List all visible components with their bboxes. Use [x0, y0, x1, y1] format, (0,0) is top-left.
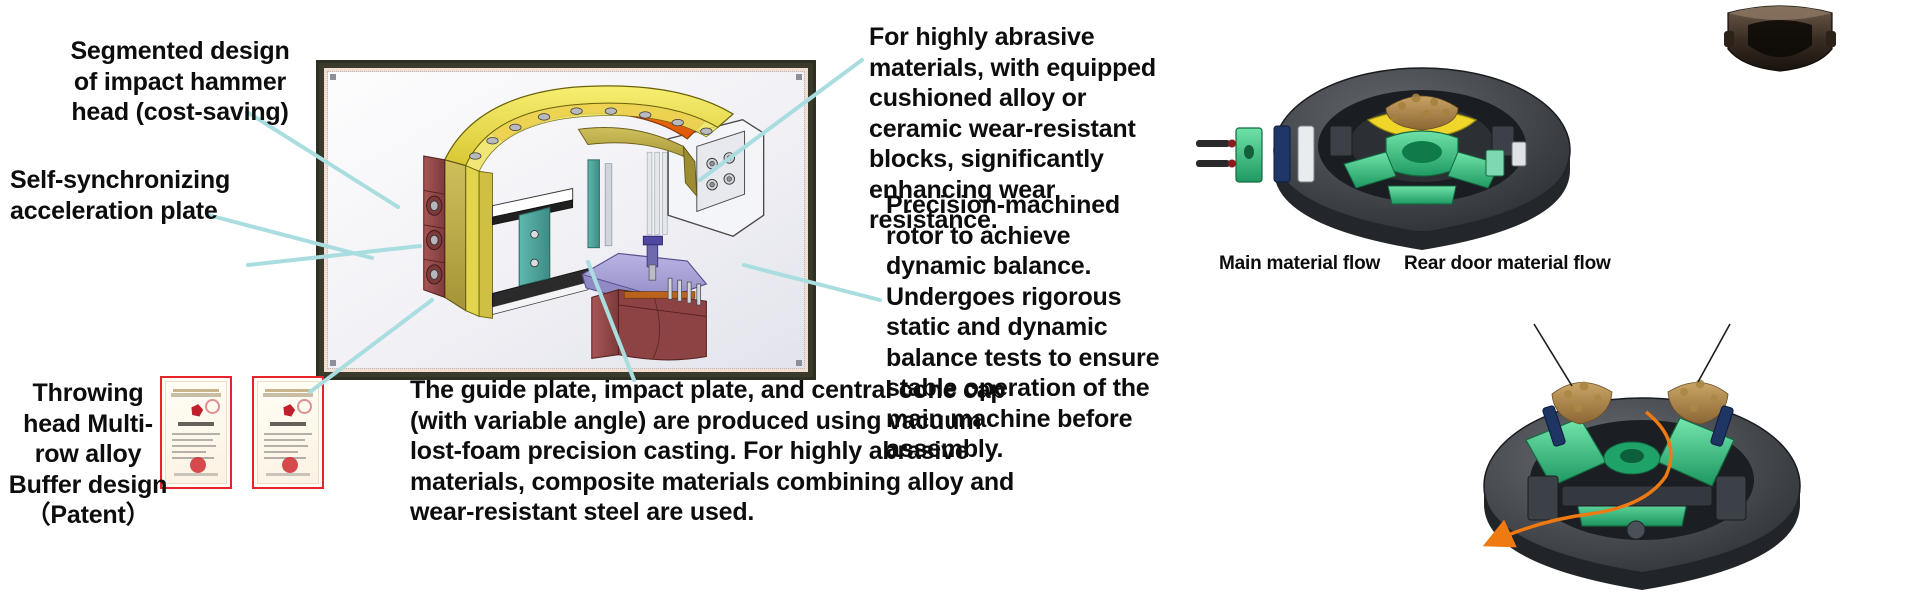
certificate-subtitle-bar — [270, 422, 306, 426]
patent-certificate-thumbnail-1[interactable] — [160, 376, 232, 489]
callout-segmented-design: Segmented design of impact hammer head (… — [60, 36, 300, 128]
certificate-seal-icon — [205, 399, 220, 414]
cad-viewport — [328, 72, 804, 368]
label-rear-door-material-flow: Rear door material flow — [1404, 252, 1611, 275]
cad-assembly-frame — [316, 60, 816, 380]
wear-ring-component-render — [1700, 5, 1860, 85]
rotor-cutaway-drawing — [328, 72, 804, 368]
diagram-canvas: Segmented design of impact hammer head (… — [0, 0, 1920, 600]
patent-certificate-body-1 — [165, 381, 227, 484]
certificate-emblem-icon — [282, 403, 296, 417]
label-main-material-flow: Main material flow — [1219, 252, 1380, 275]
certificate-red-stamp-icon — [282, 457, 298, 473]
rotor-exploded-view-render — [1190, 0, 1610, 250]
callout-self-synchronizing-acceleration-plate: Self-synchronizing acceleration plate — [10, 165, 260, 226]
cad-frame-mat — [324, 68, 808, 372]
rotor-material-flow-render — [1430, 290, 1850, 595]
callout-guide-plate-casting: The guide plate, impact plate, and centr… — [410, 375, 1020, 528]
certificate-footer-rule — [174, 473, 217, 476]
patent-certificate-thumbnail-2[interactable] — [252, 376, 324, 489]
callout-throwing-head-patent: Throwing head Multi-row alloy Buffer des… — [8, 378, 168, 531]
certificate-footer-rule — [266, 473, 309, 476]
certificate-title-bar — [263, 393, 313, 397]
certificate-header-rule — [265, 389, 311, 392]
certificate-subtitle-bar — [178, 422, 214, 426]
certificate-red-stamp-icon — [190, 457, 206, 473]
certificate-header-rule — [173, 389, 219, 392]
certificate-seal-icon — [297, 399, 312, 414]
certificate-title-bar — [171, 393, 221, 397]
patent-certificate-body-2 — [257, 381, 319, 484]
certificate-emblem-icon — [190, 403, 204, 417]
